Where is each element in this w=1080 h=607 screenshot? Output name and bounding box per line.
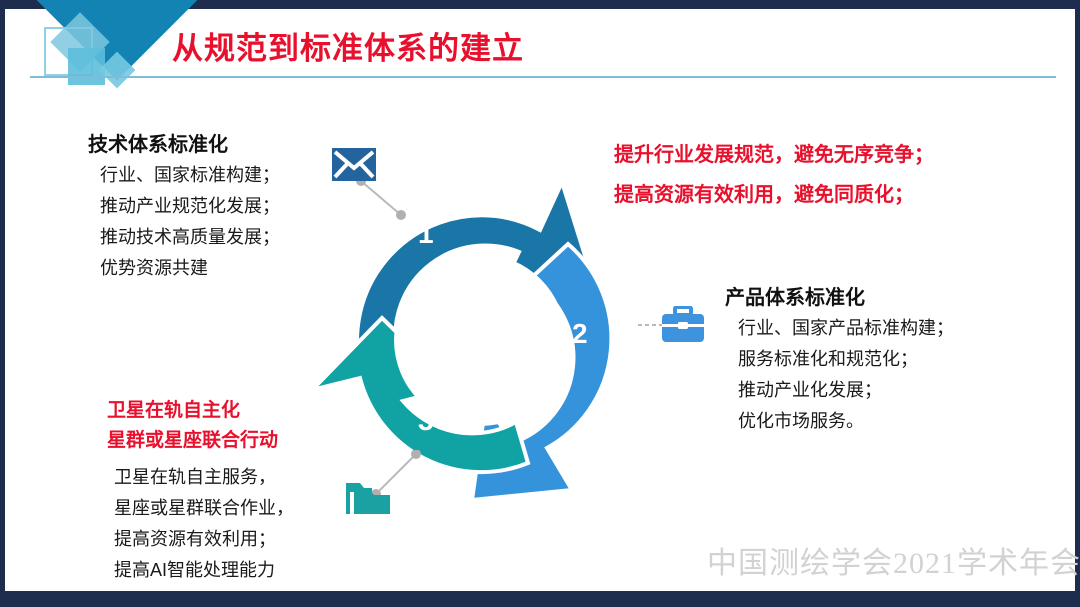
cycle-number-2: 2 bbox=[572, 318, 588, 350]
satellite-line-1: 卫星在轨自主服务， bbox=[114, 462, 294, 493]
satellite-heading-line-2: 星群或星座联合行动 bbox=[107, 426, 278, 456]
satellite-line-3: 提高资源有效利用； bbox=[114, 524, 294, 555]
briefcase-icon bbox=[662, 306, 704, 342]
satellite-heading-line-1: 卫星在轨自主化 bbox=[107, 396, 278, 426]
cycle-center-hole bbox=[394, 254, 566, 426]
decoration-square-light-2-icon bbox=[68, 48, 105, 85]
tech-block-heading: 技术体系标准化 bbox=[88, 128, 228, 157]
satellite-block-body: 卫星在轨自主服务， 星座或星群联合作业， 提高资源有效利用； 提高AI智能处理能… bbox=[114, 462, 294, 586]
product-line-4: 优化市场服务。 bbox=[738, 406, 954, 437]
product-line-1: 行业、国家产品标准构建； bbox=[738, 313, 954, 344]
title-underline bbox=[30, 76, 1056, 78]
product-block-body: 行业、国家产品标准构建； 服务标准化和规范化； 推动产业化发展； 优化市场服务。 bbox=[738, 313, 954, 437]
satellite-block-heading: 卫星在轨自主化 星群或星座联合行动 bbox=[107, 396, 278, 456]
frame-right-bar bbox=[1075, 0, 1080, 607]
cycle-diagram: 1 2 3 bbox=[300, 160, 660, 520]
cycle-diagram-svg bbox=[300, 160, 660, 520]
tech-line-1: 行业、国家标准构建； bbox=[100, 160, 280, 191]
connector-envelope bbox=[355, 175, 415, 230]
satellite-line-4: 提高AI智能处理能力 bbox=[114, 555, 294, 586]
product-line-2: 服务标准化和规范化； bbox=[738, 344, 954, 375]
watermark-text: 中国测绘学会2021学术年会 bbox=[707, 538, 1080, 582]
frame-bottom-bar bbox=[0, 591, 1080, 607]
product-line-3: 推动产业化发展； bbox=[738, 375, 954, 406]
folder-icon bbox=[344, 477, 392, 517]
tech-line-4: 优势资源共建 bbox=[100, 253, 280, 284]
product-block-heading: 产品体系标准化 bbox=[725, 281, 865, 310]
highlight-line-1: 提升行业发展规范，避免无序竞争； bbox=[614, 135, 934, 175]
highlight-top-block: 提升行业发展规范，避免无序竞争； 提高资源有效利用，避免同质化； bbox=[614, 135, 934, 215]
satellite-line-2: 星座或星群联合作业， bbox=[114, 493, 294, 524]
tech-line-2: 推动产业规范化发展； bbox=[100, 191, 280, 222]
tech-line-3: 推动技术高质量发展； bbox=[100, 222, 280, 253]
slide-canvas: 从规范到标准体系的建立 技术体系标准化 行业、国家标准构建； 推动产业规范化发展… bbox=[0, 0, 1080, 607]
page-title: 从规范到标准体系的建立 bbox=[172, 23, 524, 68]
highlight-line-2: 提高资源有效利用，避免同质化； bbox=[614, 175, 934, 215]
cycle-number-3: 3 bbox=[418, 405, 434, 437]
tech-block-body: 行业、国家标准构建； 推动产业规范化发展； 推动技术高质量发展； 优势资源共建 bbox=[100, 160, 280, 284]
envelope-icon bbox=[332, 148, 376, 181]
cycle-number-1: 1 bbox=[418, 218, 434, 250]
